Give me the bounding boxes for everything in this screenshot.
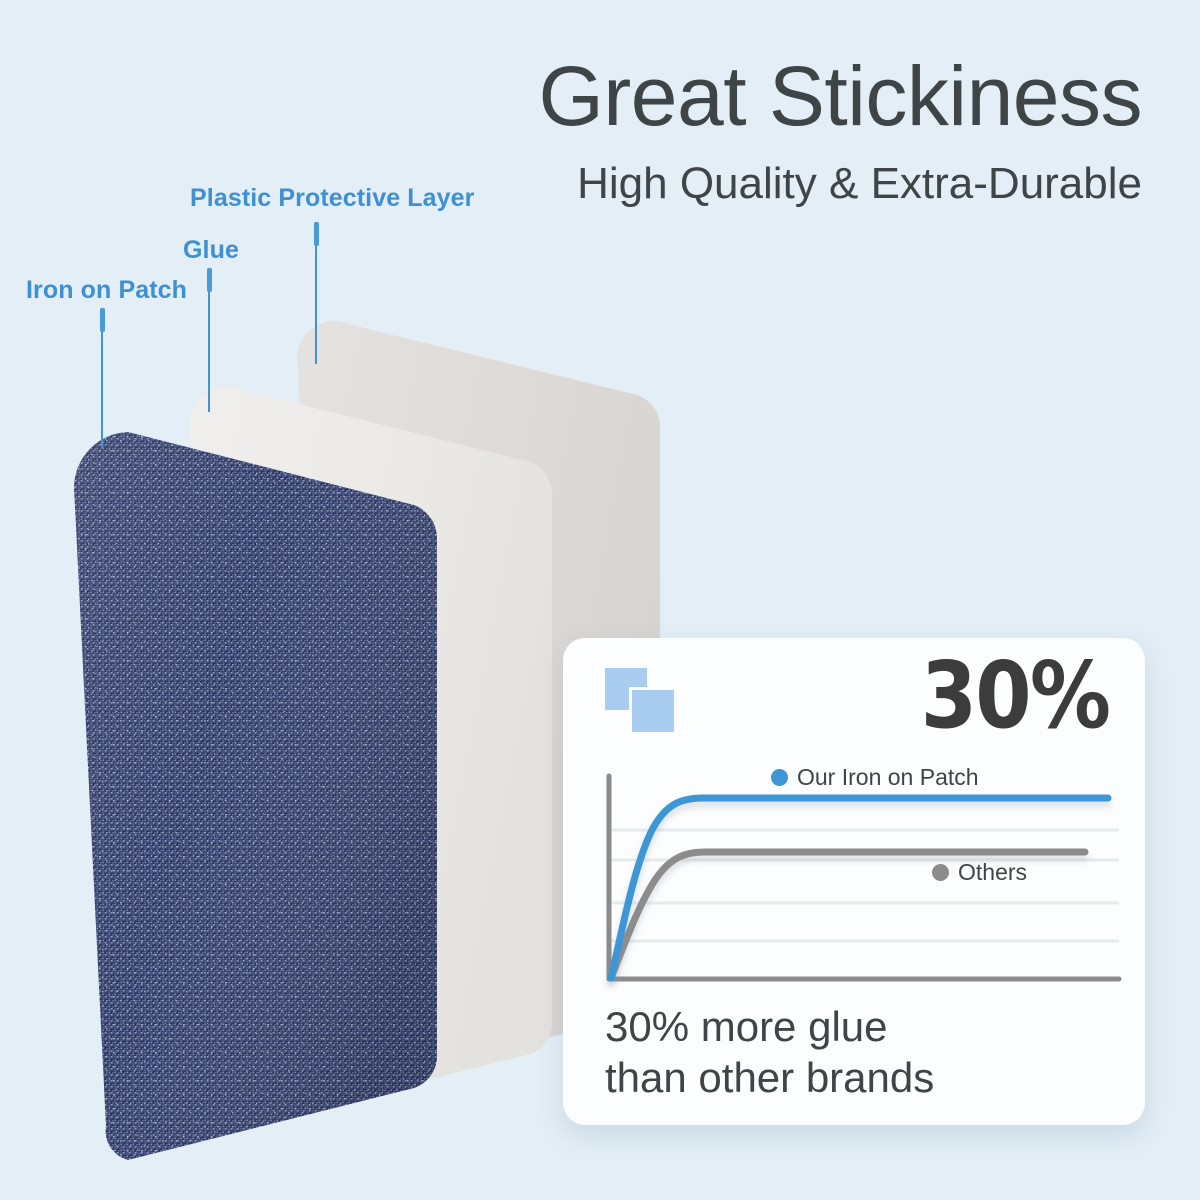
page-subtitle: High Quality & Extra-Durable: [422, 162, 1142, 206]
page-title: Great Stickiness: [422, 54, 1142, 138]
legend-dot-gray-icon: [932, 864, 949, 881]
leader-line-iron-on-patch: [101, 308, 103, 448]
leader-line-glue: [208, 268, 210, 412]
callout-label-glue: Glue: [183, 236, 239, 265]
chart-series-our-iron-on-patch: [611, 798, 1108, 978]
card-caption: 30% more glue than other brands: [605, 1001, 934, 1103]
percent-badge: 30%: [920, 650, 1109, 742]
infographic-canvas: Great Stickiness High Quality & Extra-Du…: [0, 0, 1200, 1200]
leader-nib-icon: [207, 268, 212, 292]
card-caption-line1: 30% more glue: [605, 1001, 934, 1052]
leader-line-plastic-protective-layer: [315, 222, 317, 364]
chart-svg: [563, 758, 1145, 993]
iron-on-patch-shape: [74, 432, 437, 1160]
header-block: Great Stickiness High Quality & Extra-Du…: [422, 54, 1142, 206]
callout-label-plastic-protective-layer: Plastic Protective Layer: [190, 184, 475, 213]
glue-layer-shape: [189, 387, 552, 1126]
legend-dot-blue-icon: [771, 769, 788, 786]
leader-nib-icon: [314, 222, 319, 246]
callout-label-iron-on-patch: Iron on Patch: [26, 276, 187, 305]
stat-card: 30%: [563, 638, 1145, 1125]
two-squares-icon: [605, 668, 677, 732]
card-caption-line2: than other brands: [605, 1052, 934, 1103]
legend-label-our-iron-on-patch: Our Iron on Patch: [797, 764, 979, 791]
leader-nib-icon: [100, 308, 105, 332]
legend-label-others: Others: [958, 859, 1027, 886]
stickiness-line-chart: [563, 758, 1145, 993]
square-front-icon: [632, 690, 674, 732]
chart-gridlines: [608, 830, 1119, 941]
